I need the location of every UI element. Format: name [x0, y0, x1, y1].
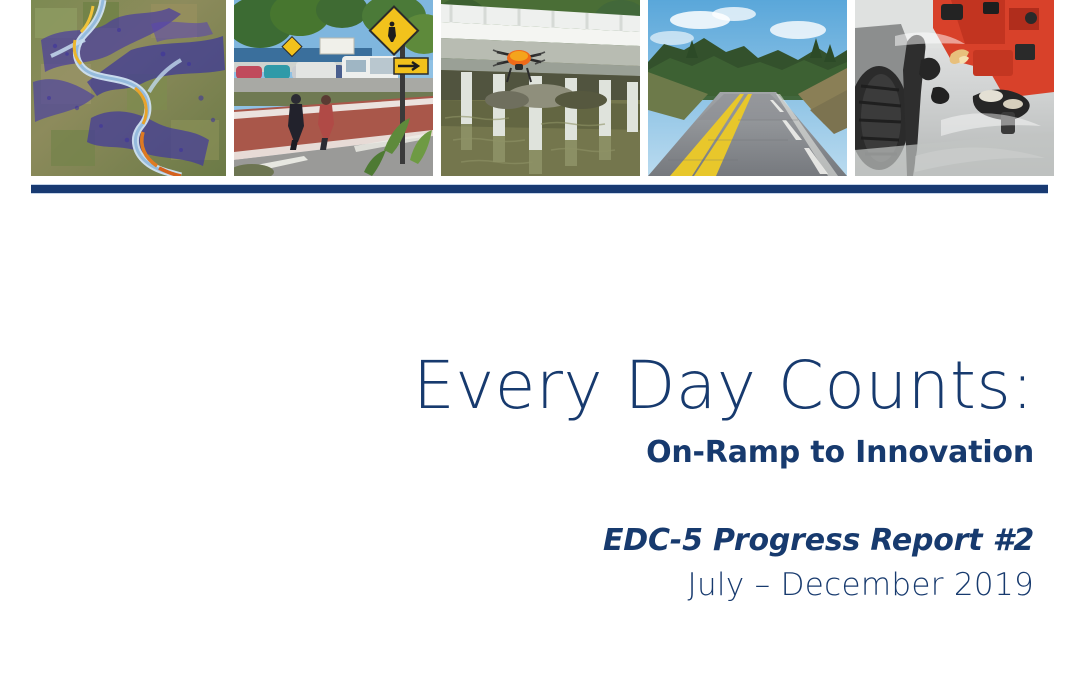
red-construction-rig-photo — [855, 0, 1054, 176]
pedestrian-crosswalk-street-photo — [234, 0, 433, 176]
banner-photo-drone-bridge-inspection — [441, 0, 640, 176]
photo-banner-strip — [31, 0, 1048, 176]
page-subtitle: On-Ramp to Innovation — [274, 435, 1034, 471]
report-designation: EDC-5 Progress Report #2 — [274, 523, 1034, 559]
banner-photo-rural-highway — [648, 0, 847, 176]
banner-navy-rule — [31, 184, 1048, 194]
banner-photo-pedestrian-crosswalk — [234, 0, 433, 176]
aerial-flood-model-map-photo — [31, 0, 226, 176]
rural-highway-pavement-photo — [648, 0, 847, 176]
cover-title-block: Every Day Counts: On-Ramp to Innovation … — [274, 352, 1034, 604]
banner-photo-construction-equipment — [855, 0, 1054, 176]
page-title: Every Day Counts: — [274, 352, 1034, 421]
banner-photo-hydraulic-flood-model — [31, 0, 226, 176]
report-date-range: July – December 2019 — [274, 567, 1034, 604]
drone-bridge-inspection-photo — [441, 0, 640, 176]
report-cover-page: Every Day Counts: On-Ramp to Innovation … — [0, 0, 1080, 675]
